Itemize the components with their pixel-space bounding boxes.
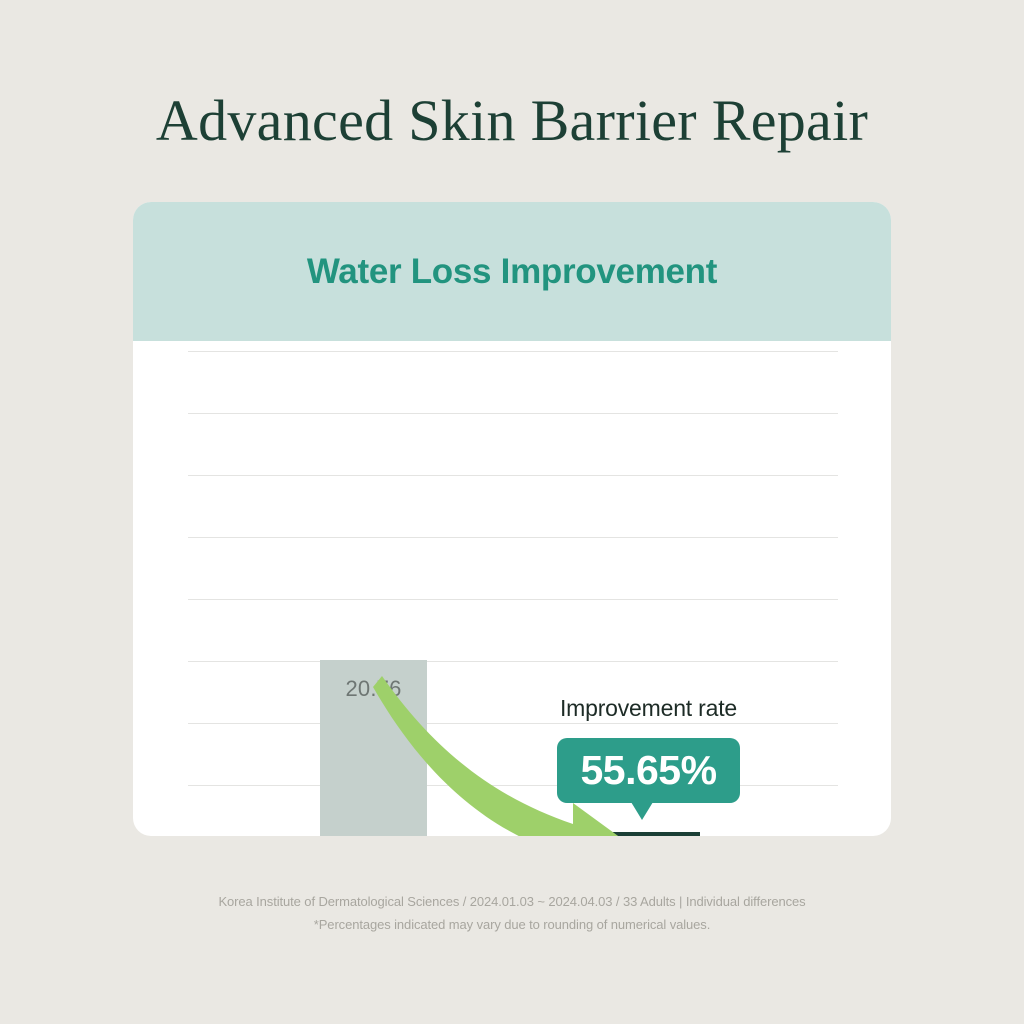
decrease-arrow-icon (133, 341, 891, 836)
gridline (188, 785, 838, 786)
page-title: Advanced Skin Barrier Repair (0, 86, 1024, 156)
gridline (188, 723, 838, 724)
bar-before-use: 20.76 (320, 660, 427, 836)
bar-after-4-weeks: 9.21 (595, 832, 700, 836)
gridline (188, 537, 838, 538)
improvement-rate-value: 55.65% (580, 750, 716, 791)
card-header-title: Water Loss Improvement (307, 252, 717, 292)
card-header: Water Loss Improvement (133, 202, 891, 341)
footnote-study-info: Korea Institute of Dermatological Scienc… (0, 890, 1024, 913)
chart-plot-area: 20.76 9.21 Before use After 4 weeks Impr… (133, 341, 891, 836)
improvement-rate-badge: 55.65% (557, 738, 740, 803)
gridline (188, 413, 838, 414)
improvement-rate-label: Improvement rate (516, 695, 781, 722)
gridline (188, 599, 838, 600)
badge-pointer-icon (631, 802, 653, 820)
gridline (188, 351, 838, 352)
chart-card: Water Loss Improvement 20.76 9.21 Before… (133, 202, 891, 836)
gridline (188, 475, 838, 476)
footnote-rounding-disclaimer: *Percentages indicated may vary due to r… (0, 913, 1024, 936)
footnotes: Korea Institute of Dermatological Scienc… (0, 890, 1024, 936)
gridline (188, 661, 838, 662)
bar-value-before-use: 20.76 (320, 676, 427, 702)
